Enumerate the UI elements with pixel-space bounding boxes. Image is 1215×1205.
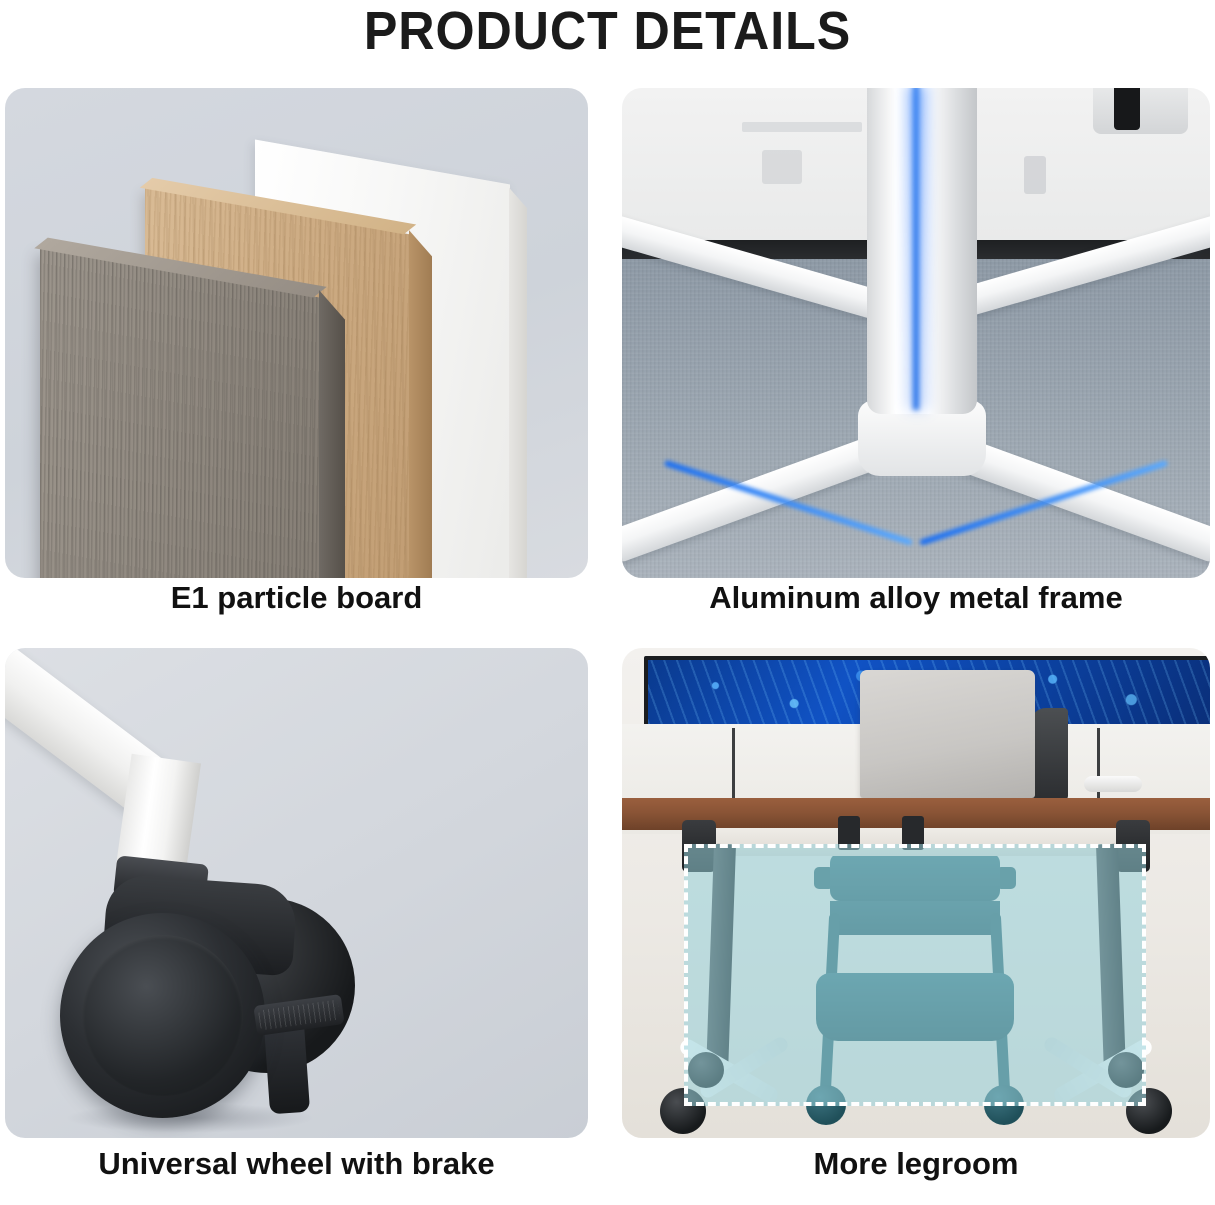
feature-panel-particle-board: E1 particle board xyxy=(5,88,588,578)
caption-legroom: More legroom xyxy=(622,1146,1210,1182)
frame-column xyxy=(867,88,977,414)
brake-stem xyxy=(264,1022,310,1115)
oak-board-edge xyxy=(409,230,432,578)
wall-object-left xyxy=(762,150,802,184)
particle-board-photo xyxy=(5,88,588,578)
caption-metal-frame: Aluminum alloy metal frame xyxy=(622,580,1210,616)
feature-grid: E1 particle board xyxy=(0,88,1215,1205)
caption-wheel: Universal wheel with brake xyxy=(5,1146,588,1182)
wall-object-right xyxy=(1024,156,1046,194)
laptop xyxy=(860,670,1035,798)
metal-frame-photo xyxy=(622,88,1210,578)
page-title: PRODUCT DETAILS xyxy=(43,0,1173,78)
wall-device-slot xyxy=(1114,88,1140,130)
brake-lever-grip xyxy=(258,1000,340,1031)
monitor-arm xyxy=(1030,708,1068,800)
caster-wheel-front xyxy=(60,913,265,1118)
feature-panel-wheel: Universal wheel with brake xyxy=(5,648,588,1138)
caster-wheel-photo xyxy=(5,648,588,1138)
legroom-photo xyxy=(622,648,1210,1138)
caption-particle-board: E1 particle board xyxy=(5,580,588,616)
mouse xyxy=(1084,776,1142,792)
wall-device xyxy=(1093,88,1188,134)
gray-board xyxy=(40,248,320,578)
legroom-highlight-area xyxy=(684,844,1146,1106)
caster-wheel-hub xyxy=(82,935,243,1096)
feature-panel-legroom: More legroom xyxy=(622,648,1210,1138)
column-glow-line xyxy=(913,88,919,410)
gray-board-edge xyxy=(319,290,345,578)
wall-strip xyxy=(742,122,862,132)
feature-panel-metal-frame: Aluminum alloy metal frame xyxy=(622,88,1210,578)
white-board-edge xyxy=(509,188,527,578)
